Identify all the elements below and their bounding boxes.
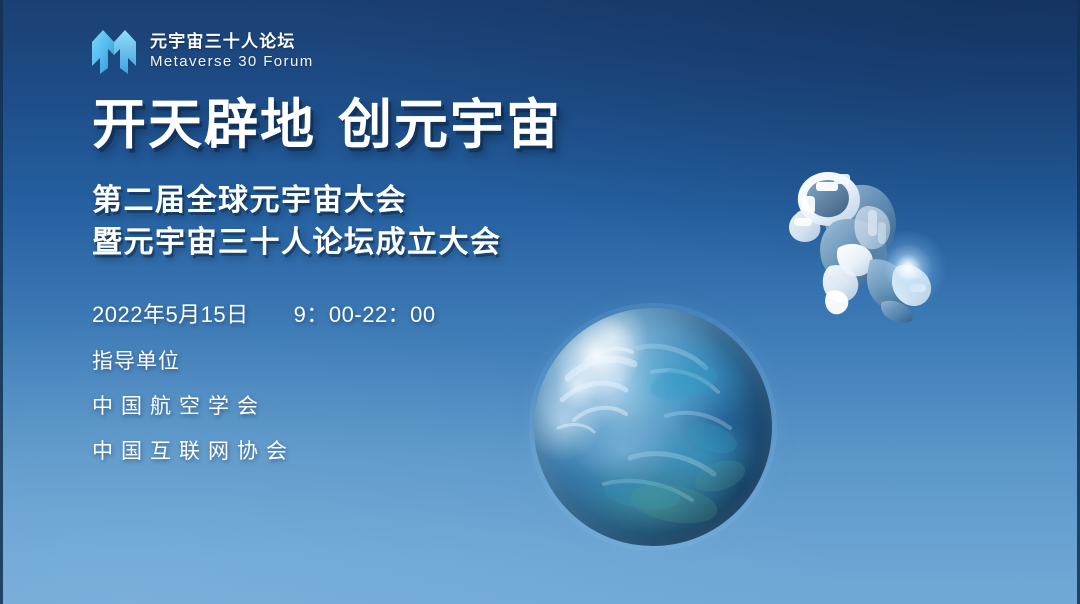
organizer-item-2: 中国互联网协会 xyxy=(92,438,562,465)
headline: 开天辟地创元宇宙 xyxy=(92,96,562,154)
earth-atmosphere-halo xyxy=(529,303,777,551)
event-datetime: 2022年5月15日 9：00-22：00 xyxy=(92,301,562,330)
earth-cloud-texture xyxy=(534,308,772,546)
left-edge-strip xyxy=(0,0,3,604)
organizer-item-1: 中国航空学会 xyxy=(92,393,562,420)
headline-part1: 开天辟地 xyxy=(92,95,316,155)
subtitle: 第二届全球元宇宙大会 暨元宇宙三十人论坛成立大会 xyxy=(92,180,562,263)
poster-text-block: 开天辟地创元宇宙 第二届全球元宇宙大会 暨元宇宙三十人论坛成立大会 2022年5… xyxy=(92,96,562,466)
event-time: 9：00-22：00 xyxy=(294,302,436,327)
brand-wordmark: 元宇宙三十人论坛 Metaverse 30 Forum xyxy=(150,31,314,72)
subtitle-line1: 第二届全球元宇宙大会 xyxy=(92,180,562,221)
metaverse-m-logo-icon xyxy=(90,28,138,74)
subtitle-line2: 暨元宇宙三十人论坛成立大会 xyxy=(92,222,562,263)
organizers-label: 指导单位 xyxy=(92,348,562,375)
brand-name-en: Metaverse 30 Forum xyxy=(150,53,314,72)
earth-globe xyxy=(534,308,772,546)
brand-logo-lockup: 元宇宙三十人论坛 Metaverse 30 Forum xyxy=(90,28,314,74)
floating-astronaut xyxy=(772,152,948,324)
headline-part2: 创元宇宙 xyxy=(338,95,562,155)
event-date: 2022年5月15日 xyxy=(92,302,249,327)
poster-canvas: 元宇宙三十人论坛 Metaverse 30 Forum xyxy=(0,0,1080,604)
brand-name-cn: 元宇宙三十人论坛 xyxy=(150,31,314,52)
